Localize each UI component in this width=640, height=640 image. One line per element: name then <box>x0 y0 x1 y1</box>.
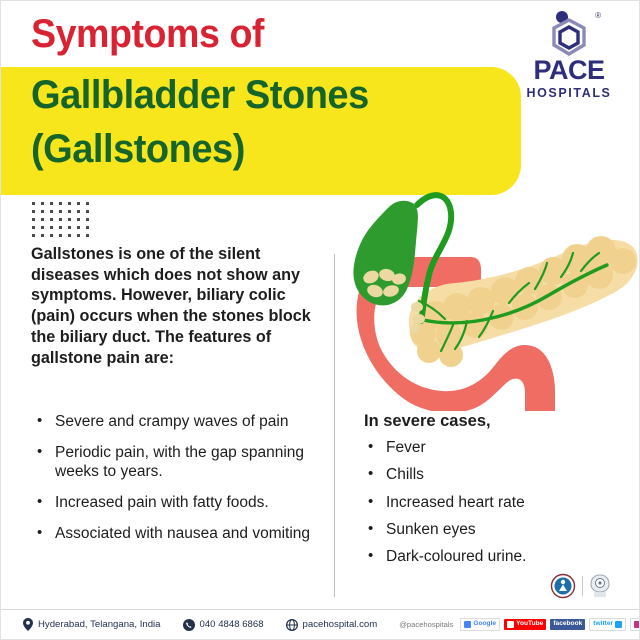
infographic-poster: Symptoms of Gallbladder Stones (Gallston… <box>0 0 640 640</box>
page-title-line1: Gallbladder Stones <box>31 73 369 118</box>
page-title-line2: (Gallstones) <box>31 127 245 172</box>
social-badge-label: facebook <box>553 621 582 628</box>
list-item: Increased pain with fatty foods. <box>33 494 323 512</box>
pace-hospitals-logo: ® PACE HOSPITALS <box>515 9 623 100</box>
footer-phone[interactable]: 040 4848 6868 <box>183 619 264 631</box>
footer-location: Hyderabad, Telangana, India <box>23 618 161 631</box>
location-pin-icon <box>23 618 33 631</box>
social-handle: @pacehospitals <box>399 620 453 629</box>
footer-website-text: pacehospital.com <box>303 619 378 630</box>
list-item: Fever <box>364 439 624 457</box>
accreditation-badges <box>550 573 611 599</box>
severe-cases-block: In severe cases, Fever Chills Increased … <box>364 412 624 575</box>
social-badge-label: YouTube <box>516 621 543 628</box>
footer-phone-text: 040 4848 6868 <box>200 619 264 630</box>
instagram-icon <box>634 621 640 628</box>
page-title-top: Symptoms of <box>31 13 264 55</box>
twitter-icon <box>615 621 622 628</box>
globe-icon <box>286 619 298 631</box>
footer-location-text: Hyderabad, Telangana, India <box>38 619 161 630</box>
footer-bar: Hyderabad, Telangana, India 040 4848 686… <box>1 609 639 639</box>
social-badges: Google YouTube facebook twitter Instagra… <box>460 618 640 631</box>
gallstone-pain-features-list: Severe and crampy waves of pain Periodic… <box>33 413 323 556</box>
registered-trademark-icon: ® <box>595 11 601 20</box>
footer-website[interactable]: pacehospital.com <box>286 619 378 631</box>
gallbladder-shape <box>353 201 417 306</box>
nabh-accreditation-icon <box>550 573 576 599</box>
phone-icon <box>183 619 195 631</box>
badge-separator <box>582 576 583 596</box>
list-item: Associated with nausea and vomiting <box>33 525 323 543</box>
logo-subtitle: HOSPITALS <box>515 86 623 100</box>
youtube-icon <box>507 621 514 628</box>
hexagon-person-mark-icon <box>541 9 597 59</box>
social-badge-youtube[interactable]: YouTube <box>504 619 546 630</box>
anatomy-svg <box>349 179 640 411</box>
social-badge-twitter[interactable]: twitter <box>589 618 626 631</box>
social-badge-instagram[interactable]: Instagram <box>630 618 640 631</box>
social-badge-label: twitter <box>593 621 613 628</box>
nabl-accreditation-icon <box>589 573 611 599</box>
intro-paragraph: Gallstones is one of the silent diseases… <box>31 244 314 368</box>
gallbladder-anatomy-illustration <box>349 179 640 411</box>
logo-wordmark: PACE <box>515 57 623 84</box>
social-badge-google[interactable]: Google <box>460 618 500 631</box>
social-badge-label: Google <box>473 621 496 628</box>
list-item: Periodic pain, with the gap spanning wee… <box>33 444 323 481</box>
list-item: Increased heart rate <box>364 494 624 512</box>
list-item: Dark-coloured urine. <box>364 548 624 566</box>
column-divider <box>334 254 335 597</box>
intro-paragraph-block: Gallstones is one of the silent diseases… <box>31 244 314 368</box>
social-badge-facebook[interactable]: facebook <box>550 619 585 630</box>
list-item: Severe and crampy waves of pain <box>33 413 323 431</box>
logo-hexagon-icon: ® <box>515 9 623 59</box>
dot-grid-decoration <box>32 202 95 242</box>
severe-cases-heading: In severe cases, <box>364 412 624 431</box>
google-icon <box>464 621 471 628</box>
list-item: Chills <box>364 466 624 484</box>
list-item: Sunken eyes <box>364 521 624 539</box>
